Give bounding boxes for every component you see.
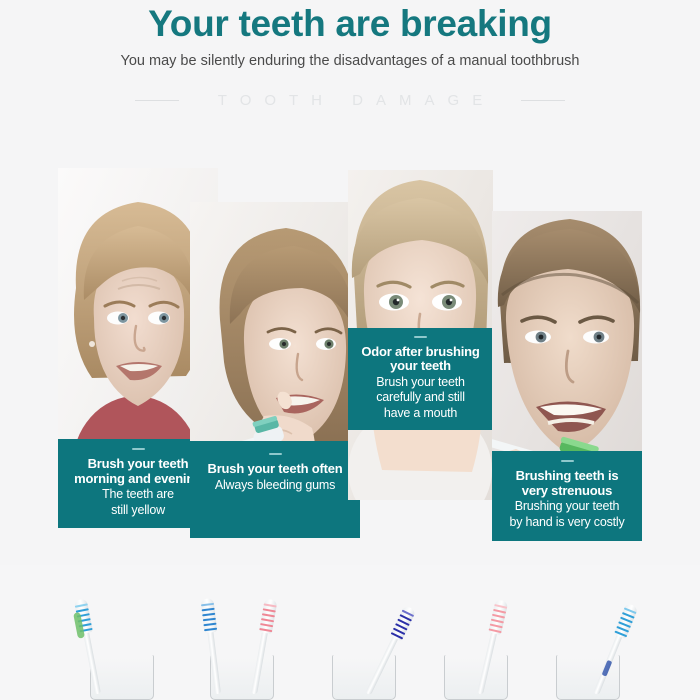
toothbrush-set-3	[322, 570, 432, 700]
page-title: Your teeth are breaking	[0, 2, 700, 46]
photo-collage: Brush your teeth morning and evening The…	[0, 140, 700, 565]
panel-bad-breath: Odor after brushing your teeth Brush you…	[348, 170, 493, 500]
eyebrow-rule-right	[521, 100, 565, 101]
caption-dash-icon	[414, 336, 427, 338]
panel-3-headline-line2: your teeth	[354, 359, 487, 374]
toothbrush-set-4	[436, 570, 546, 700]
caption-dash-icon	[561, 460, 574, 462]
glass-cup-4	[444, 655, 508, 700]
panel-4-subtext-line1: Brushing your teeth	[498, 499, 636, 514]
panel-2-subtext-line1: Always bleeding gums	[196, 478, 354, 493]
toothbrush-set-5	[546, 570, 666, 700]
caption-dash-icon	[132, 448, 145, 450]
panel-3-headline-line1: Odor after brushing	[354, 345, 487, 360]
panel-2-caption: Brush your teeth often Always bleeding g…	[190, 441, 360, 538]
toothbrush-bristles	[200, 600, 217, 631]
caption-dash-icon	[269, 453, 282, 455]
toothbrush-bristles	[390, 607, 415, 640]
toothbrush-bristles	[488, 601, 507, 633]
panel-4-subtext-line2: by hand is very costly	[498, 515, 636, 530]
panel-4-caption: Brushing teeth is very strenuous Brushin…	[492, 451, 642, 541]
panel-strenuous-brushing: Brushing teeth is very strenuous Brushin…	[492, 211, 642, 541]
eyebrow-label: TOOTH DAMAGE	[205, 92, 495, 109]
toothbrush-set-2	[188, 570, 298, 700]
panel-4-headline-line1: Brushing teeth is	[498, 469, 636, 484]
eyebrow-rule-left	[135, 100, 179, 101]
panel-3-subtext-line2: carefully and still	[354, 390, 487, 405]
panel-3-subtext-line1: Brush your teeth	[354, 375, 487, 390]
panel-3-caption: Odor after brushing your teeth Brush you…	[348, 328, 493, 431]
toothbrush-bristles	[259, 600, 277, 632]
panel-bleeding-gums: Brush your teeth often Always bleeding g…	[190, 202, 360, 538]
toothbrush-set-1	[76, 570, 166, 700]
section-eyebrow: TOOTH DAMAGE	[0, 92, 700, 109]
page-header: Your teeth are breaking You may be silen…	[0, 0, 700, 140]
panel-2-headline-line1: Brush your teeth often	[196, 462, 354, 477]
toothbrush-bristles	[614, 604, 637, 637]
page-subtitle: You may be silently enduring the disadva…	[0, 51, 700, 71]
toothbrush-band	[0, 565, 700, 700]
panel-4-headline-line2: very strenuous	[498, 484, 636, 499]
panel-3-subtext-line3: have a mouth	[354, 406, 487, 421]
